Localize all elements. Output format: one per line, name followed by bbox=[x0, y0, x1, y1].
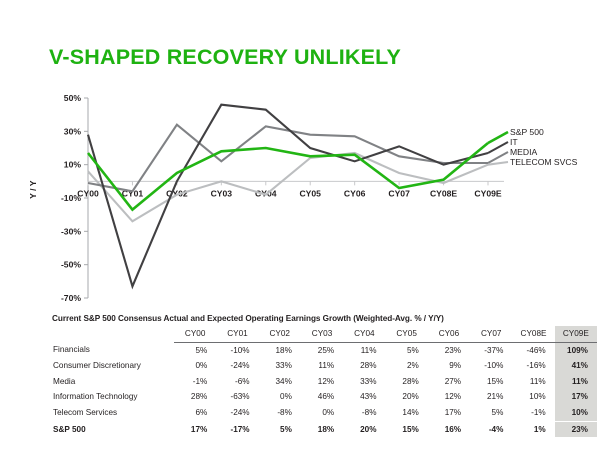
chart-x-axis: CY00CY01CY02CY03CY04CY05CY06CY07CY08ECY0… bbox=[77, 181, 502, 198]
table-cell: 23% bbox=[428, 342, 470, 358]
table-cell: 17% bbox=[555, 389, 597, 405]
table-column-header: CY02 bbox=[259, 326, 301, 342]
table-cell: -10% bbox=[216, 342, 258, 358]
table-cell: 0% bbox=[301, 405, 343, 421]
table-cell: 0% bbox=[174, 358, 216, 374]
table-row-label: Telecom Services bbox=[52, 405, 174, 421]
x-tick-label: CY07 bbox=[388, 188, 410, 198]
table-row-label: Information Technology bbox=[52, 389, 174, 405]
x-tick-label: CY03 bbox=[211, 188, 233, 198]
table-cell: 16% bbox=[428, 421, 470, 437]
table-cell: 20% bbox=[343, 421, 385, 437]
table-body: Financials5%-10%18%25%11%5%23%-37%-46%10… bbox=[52, 342, 597, 437]
y-tick-label: -50% bbox=[61, 260, 81, 270]
chart-legend: S&P 500ITMEDIATELECOM SVCS bbox=[488, 127, 578, 167]
table-cell: 43% bbox=[343, 389, 385, 405]
table-cell: 9% bbox=[428, 358, 470, 374]
table-row: Information Technology28%-63%0%46%43%20%… bbox=[52, 389, 597, 405]
table-corner-cell bbox=[52, 326, 174, 342]
table-cell: -46% bbox=[512, 342, 554, 358]
x-tick-label: CY08E bbox=[430, 188, 457, 198]
y-tick-label: -30% bbox=[61, 226, 81, 236]
table-cell: 33% bbox=[343, 374, 385, 390]
table-cell: 0% bbox=[259, 389, 301, 405]
legend-label: TELECOM SVCS bbox=[510, 157, 578, 167]
legend-label: IT bbox=[510, 137, 518, 147]
table-cell: -37% bbox=[470, 342, 512, 358]
table-row-label: S&P 500 bbox=[52, 421, 174, 437]
table-cell: 5% bbox=[470, 405, 512, 421]
table-cell: 12% bbox=[301, 374, 343, 390]
table-row-label: Consumer Discretionary bbox=[52, 358, 174, 374]
table-cell: 33% bbox=[259, 358, 301, 374]
table-cell: 15% bbox=[470, 374, 512, 390]
y-tick-label: 10% bbox=[64, 160, 82, 170]
y-tick-label: 30% bbox=[64, 126, 82, 136]
table-cell: 2% bbox=[385, 358, 427, 374]
y-axis-title: Y / Y bbox=[28, 180, 38, 199]
table-cell: 10% bbox=[555, 405, 597, 421]
table-row: Media-1%-6%34%12%33%28%27%15%11%11% bbox=[52, 374, 597, 390]
table-column-header: CY03 bbox=[301, 326, 343, 342]
earnings-table-block: Current S&P 500 Consensus Actual and Exp… bbox=[52, 314, 555, 437]
table-column-header: CY01 bbox=[216, 326, 258, 342]
table-cell: 5% bbox=[174, 342, 216, 358]
table-cell: -8% bbox=[343, 405, 385, 421]
table-cell: 11% bbox=[512, 374, 554, 390]
table-cell: 34% bbox=[259, 374, 301, 390]
table-column-header: CY04 bbox=[343, 326, 385, 342]
series-line bbox=[88, 153, 488, 221]
legend-label: S&P 500 bbox=[510, 127, 544, 137]
table-header: CY00CY01CY02CY03CY04CY05CY06CY07CY08ECY0… bbox=[52, 326, 597, 342]
table-cell: -17% bbox=[216, 421, 258, 437]
table-cell: 109% bbox=[555, 342, 597, 358]
x-tick-label: CY06 bbox=[344, 188, 366, 198]
table-column-header: CY00 bbox=[174, 326, 216, 342]
table-column-header: CY05 bbox=[385, 326, 427, 342]
chart-y-axis-title: Y / Y bbox=[28, 180, 38, 199]
table-cell: 46% bbox=[301, 389, 343, 405]
earnings-growth-line-chart: 50%30%10%-10%-30%-50%-70% CY00CY01CY02CY… bbox=[0, 88, 600, 308]
x-tick-label: CY00 bbox=[77, 188, 99, 198]
table-cell: -24% bbox=[216, 358, 258, 374]
table-cell: 1% bbox=[512, 421, 554, 437]
table-cell: 28% bbox=[385, 374, 427, 390]
table-cell: -4% bbox=[470, 421, 512, 437]
table-cell: 10% bbox=[512, 389, 554, 405]
table-cell: 28% bbox=[174, 389, 216, 405]
table-caption: Current S&P 500 Consensus Actual and Exp… bbox=[52, 314, 555, 323]
table-cell: -8% bbox=[259, 405, 301, 421]
table-cell: 15% bbox=[385, 421, 427, 437]
table-row-label: Media bbox=[52, 374, 174, 390]
table-row: Consumer Discretionary0%-24%33%11%28%2%9… bbox=[52, 358, 597, 374]
page-title: V-SHAPED RECOVERY UNLIKELY bbox=[49, 45, 401, 70]
table-cell: 27% bbox=[428, 374, 470, 390]
table-cell: 25% bbox=[301, 342, 343, 358]
table-cell: 17% bbox=[428, 405, 470, 421]
table-cell: 41% bbox=[555, 358, 597, 374]
y-tick-label: 50% bbox=[64, 93, 82, 103]
earnings-growth-table: CY00CY01CY02CY03CY04CY05CY06CY07CY08ECY0… bbox=[52, 326, 597, 437]
table-cell: 12% bbox=[428, 389, 470, 405]
table-cell: -24% bbox=[216, 405, 258, 421]
table-cell: 18% bbox=[259, 342, 301, 358]
table-row: Financials5%-10%18%25%11%5%23%-37%-46%10… bbox=[52, 342, 597, 358]
table-cell: 11% bbox=[343, 342, 385, 358]
slide-canvas: V-SHAPED RECOVERY UNLIKELY 50%30%10%-10%… bbox=[0, 0, 600, 463]
table-cell: -10% bbox=[470, 358, 512, 374]
table-cell: 11% bbox=[555, 374, 597, 390]
chart-svg: 50%30%10%-10%-30%-50%-70% CY00CY01CY02CY… bbox=[0, 88, 600, 308]
table-column-header: CY06 bbox=[428, 326, 470, 342]
table-cell: -63% bbox=[216, 389, 258, 405]
table-row-label: Financials bbox=[52, 342, 174, 358]
table-cell: 21% bbox=[470, 389, 512, 405]
legend-connector bbox=[488, 142, 508, 153]
table-cell: 23% bbox=[555, 421, 597, 437]
chart-series-lines bbox=[88, 105, 488, 287]
table-header-row: CY00CY01CY02CY03CY04CY05CY06CY07CY08ECY0… bbox=[52, 326, 597, 342]
table-cell: -6% bbox=[216, 374, 258, 390]
table-row: Telecom Services6%-24%-8%0%-8%14%17%5%-1… bbox=[52, 405, 597, 421]
x-tick-label: CY05 bbox=[299, 188, 321, 198]
table-cell: -16% bbox=[512, 358, 554, 374]
table-cell: 5% bbox=[259, 421, 301, 437]
table-cell: 14% bbox=[385, 405, 427, 421]
table-cell: 20% bbox=[385, 389, 427, 405]
legend-connector bbox=[488, 132, 508, 143]
table-cell: 5% bbox=[385, 342, 427, 358]
table-cell: 28% bbox=[343, 358, 385, 374]
table-cell: -1% bbox=[174, 374, 216, 390]
table-cell: -1% bbox=[512, 405, 554, 421]
x-tick-label: CY09E bbox=[474, 188, 501, 198]
table-cell: 17% bbox=[174, 421, 216, 437]
legend-label: MEDIA bbox=[510, 147, 537, 157]
table-row: S&P 50017%-17%5%18%20%15%16%-4%1%23% bbox=[52, 421, 597, 437]
table-column-header: CY08E bbox=[512, 326, 554, 342]
table-cell: 6% bbox=[174, 405, 216, 421]
y-tick-label: -70% bbox=[61, 293, 81, 303]
table-cell: 11% bbox=[301, 358, 343, 374]
table-column-header: CY07 bbox=[470, 326, 512, 342]
table-cell: 18% bbox=[301, 421, 343, 437]
table-column-header: CY09E bbox=[555, 326, 597, 342]
